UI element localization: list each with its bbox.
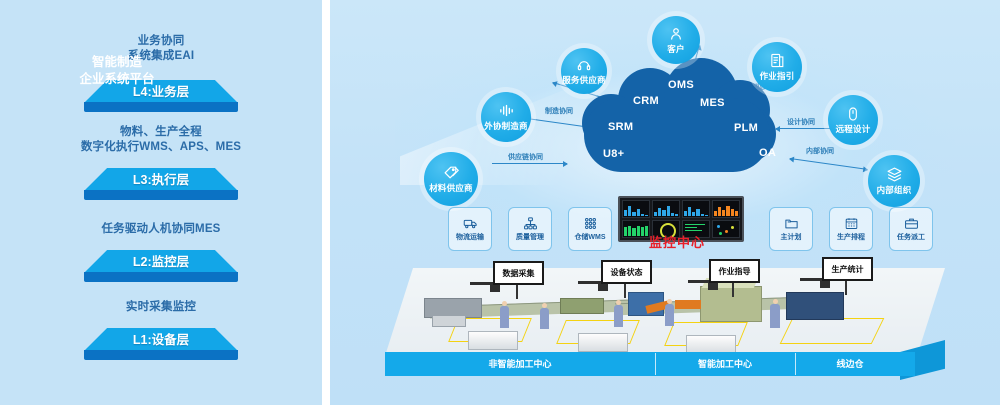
layer-l3-base (84, 190, 238, 200)
cloud-title-line1: 智能制造 (24, 54, 210, 71)
floor-sign-production-stats[interactable]: 生产统计 (822, 257, 873, 281)
cloud-tag-u8[interactable]: U8+ (603, 148, 624, 160)
calendar-icon (844, 216, 859, 231)
node-remote-design[interactable]: 远程设计 (828, 95, 878, 145)
worker (540, 308, 549, 329)
briefcase-icon (904, 216, 919, 231)
layer-l2-label: L2:监控层 (84, 253, 238, 271)
panel-divider (322, 0, 330, 405)
gantry-hoist (820, 281, 830, 288)
layers-icon (886, 166, 903, 183)
cloud-title-line2: 企业系统平台 (24, 71, 210, 88)
document-icon (769, 52, 786, 69)
chip-quality[interactable]: 质量管理 (508, 207, 552, 251)
dash-cell-3 (682, 200, 710, 218)
truck-icon (463, 216, 478, 231)
tag-icon (443, 164, 460, 181)
machine-base (432, 315, 466, 327)
lane-marking (780, 318, 885, 344)
node-remote-design-label: 远程设计 (836, 123, 871, 135)
machine-enclosure (700, 286, 762, 322)
layer-l1-base (84, 350, 238, 360)
cloud-tag-oa[interactable]: OA (759, 147, 776, 159)
caption-l3: 物料、生产全程 数字化执行WMS、APS、MES (0, 125, 322, 155)
chip-master-plan[interactable]: 主计划 (769, 207, 813, 251)
mouse-icon (845, 106, 861, 122)
cloud-tag-mes[interactable]: MES (700, 97, 725, 109)
caption-l3-line2: 数字化执行WMS、APS、MES (0, 140, 322, 155)
node-outsourced-manufacturer-label: 外协制造商 (484, 120, 528, 132)
label-design-collab: 设计协同 (787, 117, 815, 127)
dash-cell-2 (652, 200, 680, 218)
dash-cell-1 (622, 200, 650, 218)
gantry-hoist (598, 284, 608, 291)
worker (665, 304, 674, 326)
caption-l3-line1: 物料、生产全程 (0, 125, 322, 140)
caption-l4-line1: 业务协同 (0, 34, 322, 49)
caption-l1-line1: 实时采集监控 (0, 300, 322, 315)
chip-task-dispatch[interactable]: 任务派工 (889, 207, 933, 251)
node-internal-org[interactable]: 内部组织 (868, 155, 920, 207)
chip-production-schedule-label: 生产排程 (837, 232, 865, 242)
chip-warehouse[interactable]: 仓储WMS (568, 207, 612, 251)
chip-task-dispatch-label: 任务派工 (897, 232, 925, 242)
caption-l2: 任务驱动人机协同MES (0, 222, 322, 237)
arrow-supply-chain (492, 163, 567, 164)
cloud-tag-plm[interactable]: PLM (734, 122, 758, 134)
chip-warehouse-label: 仓储WMS (574, 232, 605, 242)
waveform-icon (498, 102, 515, 119)
cloud-tag-oms[interactable]: OMS (668, 79, 694, 91)
layer-l4-base (84, 102, 238, 112)
user-icon (668, 26, 684, 42)
machine-unit (560, 298, 604, 314)
node-work-instruction-label: 作业指引 (760, 70, 795, 82)
chip-quality-label: 质量管理 (516, 232, 544, 242)
floor-sign-equipment-status[interactable]: 设备状态 (601, 260, 652, 284)
robot-arm (675, 300, 701, 309)
node-internal-org-label: 内部组织 (877, 184, 912, 196)
layer-l3[interactable]: L3:执行层 (84, 168, 238, 201)
headset-icon (576, 57, 592, 73)
node-outsourced-manufacturer[interactable]: 外协制造商 (481, 92, 531, 142)
node-service-supplier-label: 服务供应商 (562, 74, 606, 86)
worker (500, 306, 509, 328)
crate (578, 333, 628, 352)
layer-l3-label: L3:执行层 (84, 171, 238, 189)
worker (770, 304, 780, 328)
floor-sign-work-guidance[interactable]: 作业指导 (709, 259, 760, 283)
zone-non-smart-center: 非智能加工中心 (385, 355, 655, 373)
node-material-supplier[interactable]: 材料供应商 (424, 152, 478, 206)
chip-master-plan-label: 主计划 (781, 232, 802, 242)
worker (614, 305, 623, 327)
crate (468, 331, 518, 350)
crate (686, 335, 736, 354)
caption-l1: 实时采集监控 (0, 300, 322, 315)
zone-smart-center: 智能加工中心 (655, 355, 795, 373)
floor-sign-data-collection[interactable]: 数据采集 (493, 261, 544, 285)
node-service-supplier[interactable]: 服务供应商 (561, 48, 607, 94)
node-work-instruction[interactable]: 作业指引 (752, 42, 802, 92)
cloud-tag-crm[interactable]: CRM (633, 95, 659, 107)
chip-production-schedule[interactable]: 生产排程 (829, 207, 873, 251)
machine-unit (786, 292, 844, 320)
chip-logistics-label: 物流运输 (456, 232, 484, 242)
dash-cell-4 (712, 200, 740, 218)
node-customer-label: 客户 (667, 43, 684, 55)
layer-l2[interactable]: L2:监控层 (84, 250, 238, 283)
hierarchy-icon (523, 216, 538, 231)
layer-l1-label: L1:设备层 (84, 331, 238, 349)
layer-l1[interactable]: L1:设备层 (84, 328, 238, 361)
zone-line-side-warehouse: 线边仓 (795, 355, 905, 373)
folder-icon (784, 216, 799, 231)
cloud-title: 智能制造 企业系统平台 (24, 54, 210, 88)
caption-l2-line1: 任务驱动人机协同MES (0, 222, 322, 237)
gantry-hoist (708, 283, 718, 290)
label-internal-collab: 内部协同 (806, 146, 834, 156)
monitoring-center-label: 监控中心 (612, 232, 742, 251)
label-supply-chain-collab: 供应链协同 (508, 152, 543, 162)
node-customer[interactable]: 客户 (652, 16, 700, 64)
cloud-tag-srm[interactable]: SRM (608, 121, 633, 133)
gantry-hoist (490, 285, 500, 292)
layer-l2-base (84, 272, 238, 282)
node-material-supplier-label: 材料供应商 (429, 182, 473, 194)
chip-logistics[interactable]: 物流运输 (448, 207, 492, 251)
diagram-root: 业务协同 系统集成EAI L4:业务层 物料、生产全程 数字化执行WMS、APS… (0, 0, 1000, 405)
grid-dots-icon (583, 216, 598, 231)
